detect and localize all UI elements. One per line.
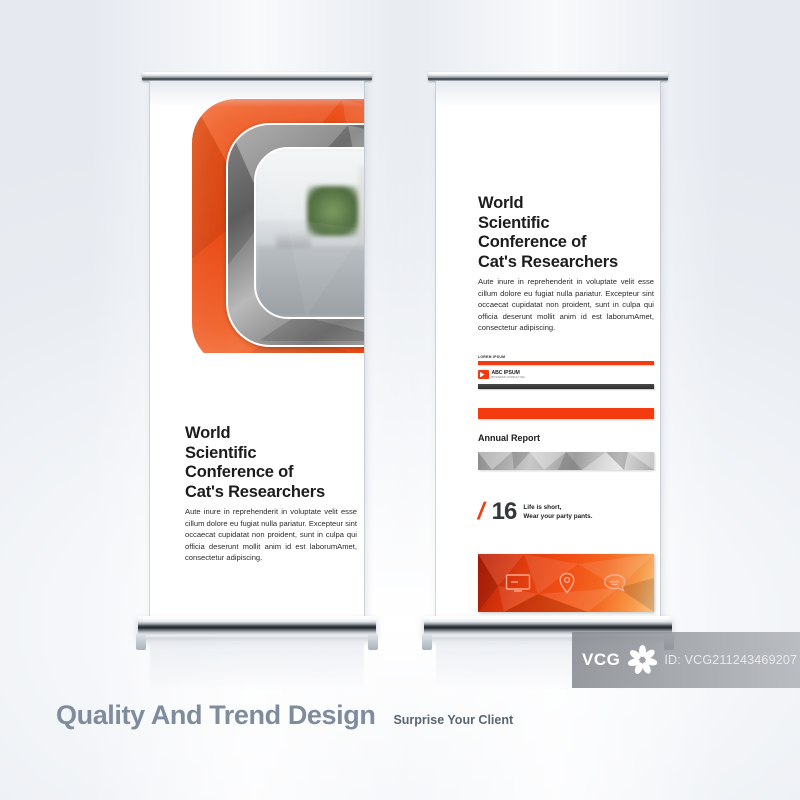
vcg-watermark: VCG ID: VCG211243469207 [572, 632, 800, 688]
banner-sheet-left: WorldScientificConference ofCat's Resear… [150, 81, 364, 616]
banner-right-body: Aute inure in reprehenderit in voluptate… [478, 276, 654, 334]
tagline-line-2: Wear your party pants. [523, 513, 592, 520]
divider-dark-bar [478, 384, 654, 389]
watermark-burst-icon [627, 645, 657, 675]
company-logo[interactable]: ABC IPSUM BUSINESS CONSULTING [478, 370, 525, 380]
banner-foot-left-2 [368, 634, 378, 650]
accent-bar-red [478, 408, 654, 419]
banner-left-headline: WorldScientificConference ofCat's Resear… [185, 424, 360, 502]
banner-base-left [138, 616, 376, 638]
badge-tagline: Life is short, Wear your party pants. [523, 503, 592, 521]
slash-glyph: / [475, 500, 487, 524]
banner-foot-left-1 [136, 634, 146, 650]
caption-subtitle: Surprise Your Client [393, 713, 513, 727]
roll-up-banner-right[interactable]: WorldScientificConference ofCat's Resear… [436, 72, 660, 640]
banner-right-headline: WorldScientificConference ofCat's Resear… [478, 194, 658, 272]
poster-canvas: WorldScientificConference ofCat's Resear… [0, 0, 800, 800]
bottom-image-red [478, 554, 654, 612]
banner-left-body: Aute inure in reprehenderit in voluptate… [185, 506, 357, 564]
banner-right-tiny-label: LOREM IPSUM [478, 355, 505, 359]
divider-red-thin [478, 361, 654, 365]
roll-up-banner-left[interactable]: WorldScientificConference ofCat's Resear… [150, 72, 364, 640]
year-number: 16 [492, 500, 517, 524]
monitor-icon [505, 573, 531, 593]
tagline-line-1: Life is short, [523, 504, 561, 511]
banner-reflection-left [150, 642, 364, 690]
banner-photo-street [254, 147, 364, 319]
poster-caption: Quality And Trend Design Surprise Your C… [56, 700, 513, 731]
watermark-brand: VCG [582, 650, 620, 670]
annual-report-label: Annual Report [478, 433, 540, 443]
speech-bubble-icon [603, 573, 627, 593]
watermark-id: ID: VCG211243469207 [664, 653, 797, 667]
banner-sheet-right: WorldScientificConference ofCat's Resear… [436, 81, 660, 616]
location-pin-icon [558, 572, 576, 594]
banner-top-rail-left [142, 72, 372, 81]
caption-title: Quality And Trend Design [56, 700, 375, 731]
year-badge: / 16 Life is short, Wear your party pant… [478, 500, 593, 524]
polygon-overlay-strip [478, 452, 654, 470]
logo-tagline: BUSINESS CONSULTING [492, 376, 525, 380]
banner-top-rail-right [428, 72, 668, 81]
logo-mark-icon [478, 370, 489, 379]
banner-artwork-left [150, 81, 364, 353]
grey-polygon-strip [478, 452, 654, 470]
banner-foot-right-1 [422, 634, 432, 650]
